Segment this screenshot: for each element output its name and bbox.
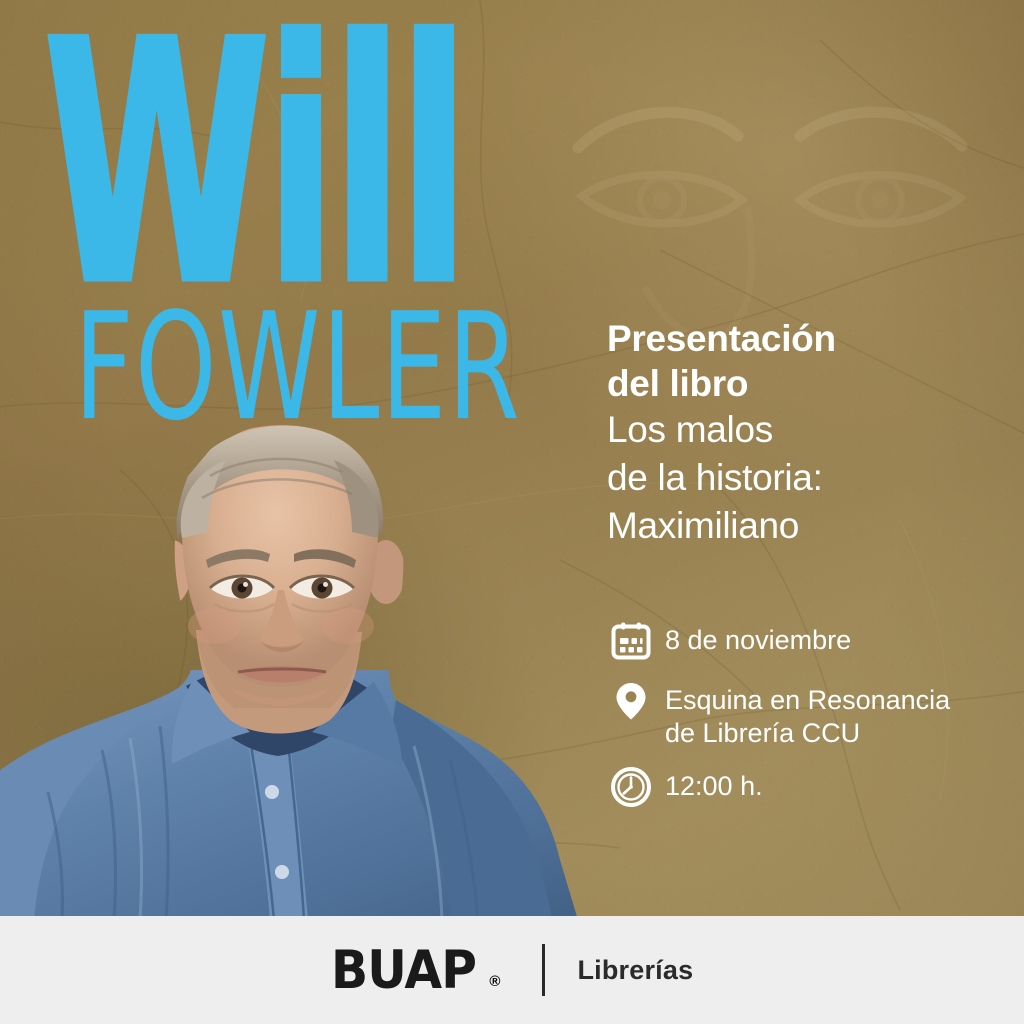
- event-details-list: 8 de noviembre Esquina en Resonancia de …: [608, 618, 1008, 824]
- footer-bar: BUAP® Librerías: [0, 916, 1024, 1024]
- location-pin-icon: [608, 678, 654, 724]
- calendar-icon: [608, 618, 654, 664]
- poster-canvas: Will FOWLER: [0, 0, 1024, 1024]
- footer-divider: [542, 944, 545, 996]
- detail-text-time: 12:00 h.: [665, 764, 763, 803]
- event-heading-line1: Presentación: [607, 316, 1007, 361]
- buap-logo-text: BUAP: [331, 940, 476, 1001]
- event-heading-line2: del libro: [607, 361, 1007, 406]
- footer-label: Librerías: [577, 955, 693, 986]
- detail-text-location-line2: de Librería CCU: [665, 717, 950, 750]
- book-title-line2: de la historia:: [607, 454, 1007, 502]
- buap-logo: BUAP®: [331, 940, 501, 1001]
- footer-content: BUAP® Librerías: [331, 940, 694, 1001]
- detail-row-location: Esquina en Resonancia de Librería CCU: [608, 678, 1008, 750]
- author-first-name: Will: [44, 14, 465, 314]
- detail-row-date: 8 de noviembre: [608, 618, 1008, 664]
- detail-row-time: 12:00 h.: [608, 764, 1008, 810]
- detail-text-date: 8 de noviembre: [665, 618, 851, 657]
- registered-trademark-icon: ®: [489, 973, 500, 990]
- detail-text-location-line1: Esquina en Resonancia: [665, 678, 950, 717]
- book-title-line1: Los malos: [607, 406, 1007, 454]
- book-title-line3: Maximiliano: [607, 502, 1007, 550]
- author-portrait: [0, 420, 582, 920]
- author-last-name: FOWLER: [74, 307, 521, 427]
- clock-icon: [608, 764, 654, 810]
- event-info-block: Presentación del libro Los malos de la h…: [607, 316, 1007, 550]
- detail-text-location: Esquina en Resonancia de Librería CCU: [665, 678, 950, 750]
